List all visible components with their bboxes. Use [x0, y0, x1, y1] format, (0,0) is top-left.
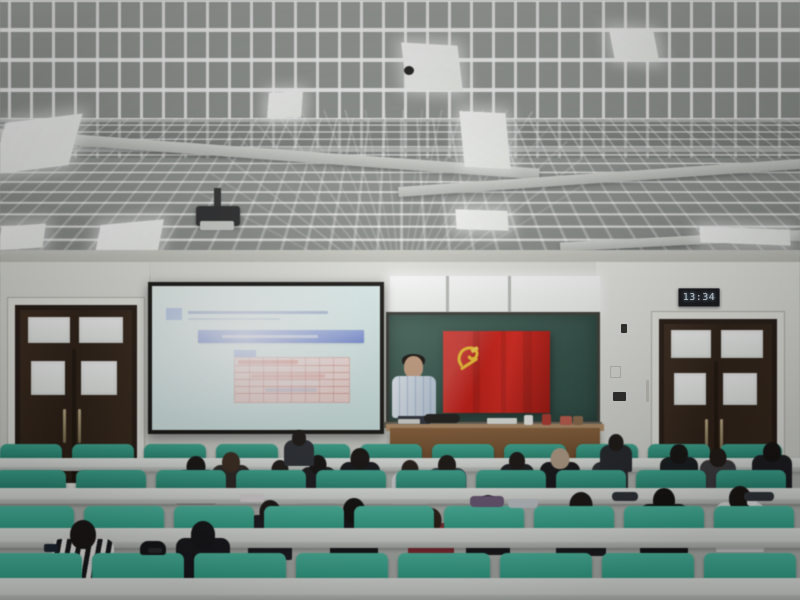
hammer-sickle-emblem	[455, 343, 485, 371]
door-pane-transom-left	[671, 330, 711, 358]
clerestory-window	[390, 276, 600, 312]
ceiling-light-panel	[609, 28, 660, 62]
student-head	[292, 430, 306, 446]
digital-wall-clock: 13:34	[678, 288, 720, 307]
door-handle-right[interactable]	[78, 409, 81, 443]
ceiling-light-panel	[455, 209, 508, 231]
student-head	[551, 448, 570, 469]
door-handle-left[interactable]	[63, 409, 66, 443]
student-head	[509, 452, 525, 470]
backpack	[612, 492, 638, 501]
projection-screen	[148, 282, 384, 434]
jacket-on-desk	[470, 496, 504, 507]
door-pane-left	[31, 361, 65, 395]
clock-time-text: 13:34	[683, 292, 716, 303]
ceiling-light-panel	[459, 111, 511, 169]
ceiling-light-panel	[699, 226, 790, 245]
door-pane-left	[674, 373, 706, 405]
desk-paper-left	[398, 419, 420, 424]
student-head	[70, 520, 96, 549]
ceiling-sensor	[404, 66, 414, 75]
desk-red-item	[560, 416, 572, 425]
door-pane-transom-right	[79, 317, 123, 343]
presenter-shirt	[392, 376, 436, 418]
presenter-head	[404, 356, 423, 378]
wall-pipe	[646, 380, 649, 402]
lecture-hall-photo: 13:34	[0, 0, 800, 600]
door-pane-transom-left	[28, 317, 70, 343]
phone	[44, 544, 58, 552]
projected-slide	[152, 286, 380, 430]
door-pane-transom-right	[721, 330, 763, 358]
bag-on-desk	[508, 499, 538, 508]
desk-red-box	[542, 414, 551, 425]
student	[284, 430, 314, 466]
projector	[196, 206, 240, 226]
door-pane-right	[81, 361, 117, 395]
student-desk-row	[0, 578, 800, 600]
student-head	[191, 521, 215, 548]
student	[600, 434, 632, 472]
party-flag	[443, 331, 550, 413]
student-head	[710, 448, 727, 467]
wall-bracket	[621, 324, 627, 333]
student-head	[670, 444, 688, 464]
desk-object	[573, 416, 583, 425]
desk-cup	[524, 415, 533, 425]
student-head	[222, 452, 240, 472]
student-head	[609, 434, 624, 451]
door-pane-right	[723, 373, 757, 405]
desk-bag	[424, 414, 460, 423]
desk-papers	[487, 418, 517, 424]
bag	[744, 492, 774, 501]
ceiling-light-panel	[267, 91, 303, 118]
notebook	[240, 494, 264, 502]
student-head	[763, 442, 781, 462]
student-desk-row	[0, 528, 800, 548]
wall-box	[613, 392, 626, 401]
ceiling-light-panel	[0, 223, 46, 250]
student-head	[351, 448, 370, 469]
cap-brim	[148, 548, 162, 553]
wall-outlet	[610, 366, 621, 378]
